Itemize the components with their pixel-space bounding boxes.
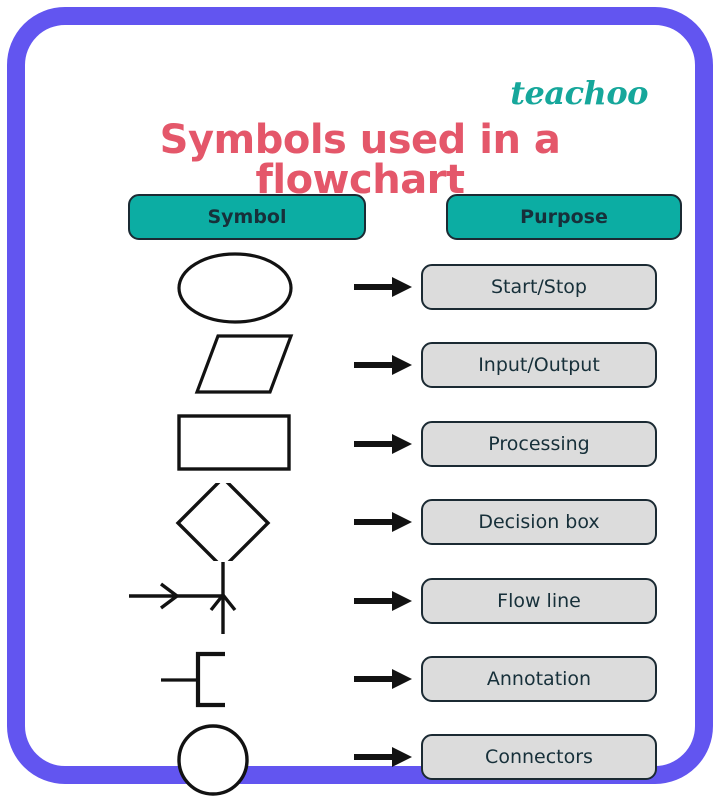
arrow-cell [338, 248, 428, 326]
purpose-label: Flow line [497, 590, 581, 612]
annotation-symbol [105, 640, 365, 718]
symbol-cell [105, 326, 365, 404]
table-row: Decision box [50, 483, 720, 561]
purpose-label: Processing [488, 433, 589, 455]
purpose-label: Annotation [487, 668, 591, 690]
purpose-pill: Processing [421, 421, 657, 467]
white-card: teachoo Symbols used in a flowchart Symb… [50, 50, 670, 741]
right-arrow-icon [352, 744, 414, 770]
table-row: Processing [50, 405, 720, 483]
table-row: Connectors [50, 718, 720, 796]
right-arrow-icon [352, 352, 414, 378]
column-header-purpose: Purpose [446, 194, 682, 240]
table-row: Start/Stop [50, 248, 720, 326]
symbol-cell [105, 248, 365, 326]
symbol-cell [105, 640, 365, 718]
ellipse-symbol [105, 248, 365, 326]
arrow-cell [338, 483, 428, 561]
column-header-symbol: Symbol [128, 194, 366, 240]
purpose-pill: Flow line [421, 578, 657, 624]
purpose-label: Start/Stop [491, 276, 587, 298]
symbol-cell [105, 718, 365, 796]
arrow-cell [338, 405, 428, 483]
arrow-cell [338, 326, 428, 404]
column-header-symbol-label: Symbol [207, 206, 286, 228]
arrow-cell [338, 640, 428, 718]
symbol-cell [105, 562, 365, 640]
flow-line-symbol [105, 562, 365, 640]
symbol-cell [105, 483, 365, 561]
right-arrow-icon [352, 431, 414, 457]
column-header-purpose-label: Purpose [520, 206, 608, 228]
symbol-cell [105, 405, 365, 483]
right-arrow-icon [352, 666, 414, 692]
circle-symbol [105, 718, 365, 796]
right-arrow-icon [352, 588, 414, 614]
purpose-pill: Annotation [421, 656, 657, 702]
purpose-label: Connectors [485, 746, 593, 768]
flowchart-symbols-infographic: teachoo Symbols used in a flowchart Symb… [0, 0, 720, 791]
right-arrow-icon [352, 274, 414, 300]
arrow-cell [338, 718, 428, 796]
purple-frame-border: teachoo Symbols used in a flowchart Symb… [7, 7, 713, 784]
parallelogram-symbol [105, 326, 365, 404]
diamond-symbol [105, 483, 365, 561]
right-arrow-icon [352, 509, 414, 535]
teachoo-logo: teachoo [510, 77, 648, 109]
page-title: Symbols used in a flowchart [50, 120, 670, 200]
purpose-pill: Input/Output [421, 342, 657, 388]
purpose-label: Decision box [478, 511, 599, 533]
table-row: Input/Output [50, 326, 720, 404]
rectangle-symbol [105, 405, 365, 483]
table-row: Annotation [50, 640, 720, 718]
table-row: Flow line [50, 562, 720, 640]
purpose-label: Input/Output [478, 354, 600, 376]
purpose-pill: Decision box [421, 499, 657, 545]
arrow-cell [338, 562, 428, 640]
purpose-pill: Connectors [421, 734, 657, 780]
purpose-pill: Start/Stop [421, 264, 657, 310]
